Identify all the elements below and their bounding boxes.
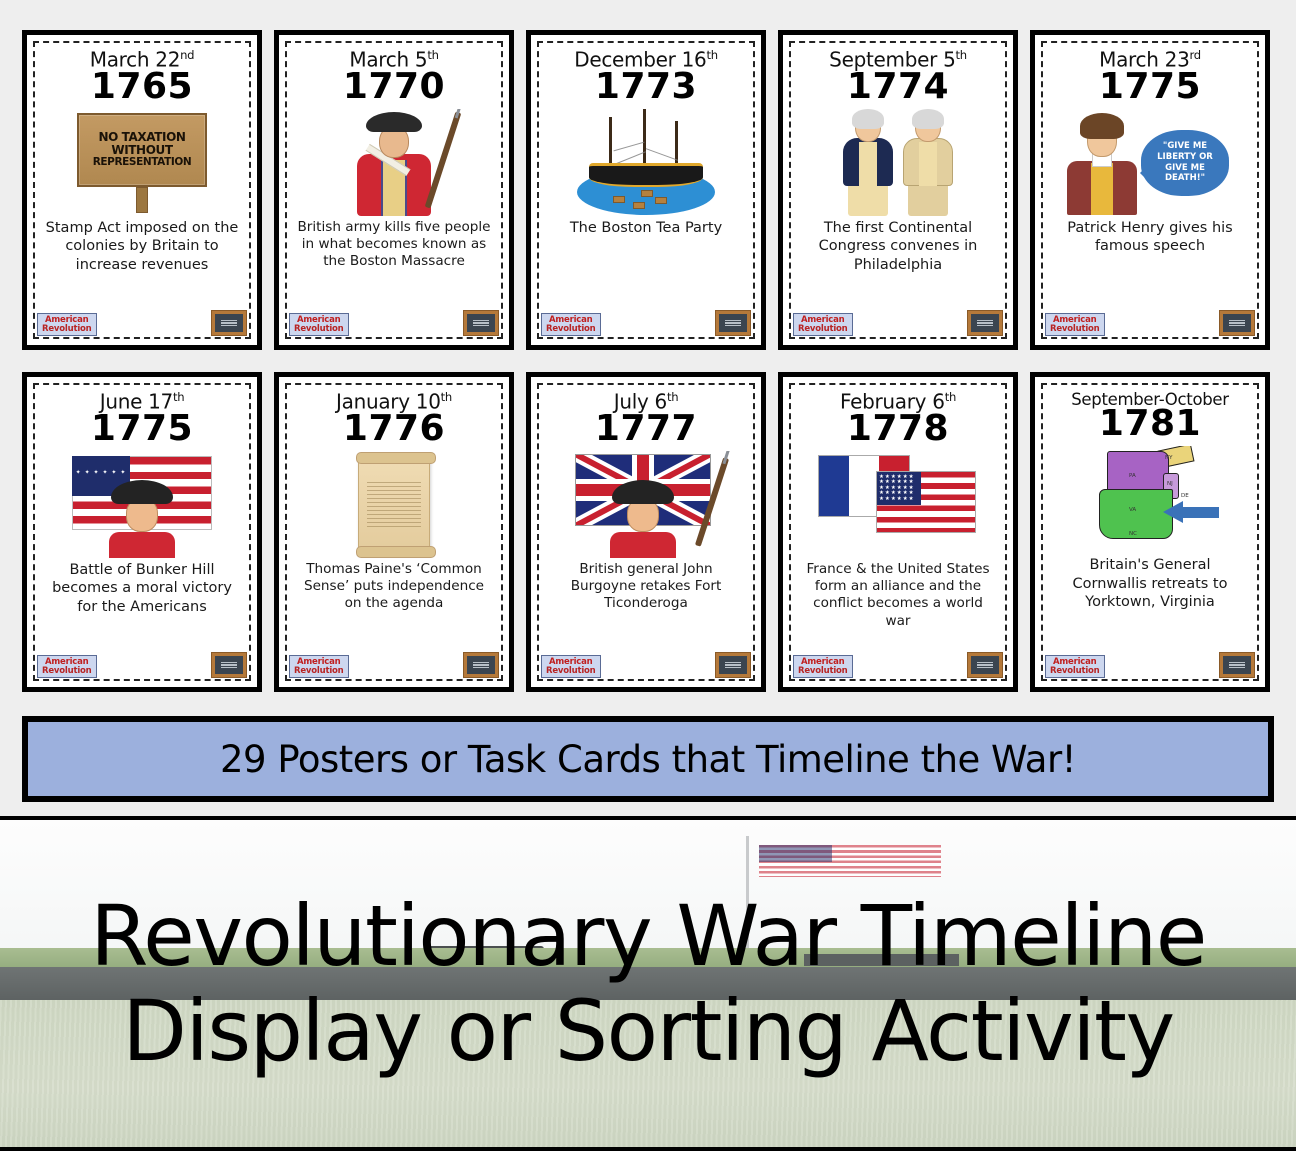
timeline-card[interactable]: June 17th 1775 Battle bbox=[22, 372, 262, 692]
american-revolution-badge: American Revolution bbox=[1045, 313, 1105, 336]
common-sense-scroll-art bbox=[293, 451, 495, 559]
card-badges: American Revolution bbox=[1045, 310, 1255, 336]
sign-line-2: WITHOUT bbox=[111, 144, 172, 156]
tea-ship-art bbox=[545, 109, 747, 217]
bunker-hill-soldier-art bbox=[41, 451, 243, 559]
chalkboard-logo-icon bbox=[715, 652, 751, 678]
card-badges: American Revolution bbox=[289, 310, 499, 336]
patrick-henry-art: "GIVE ME LIBERTY OR GIVE ME DEATH!" bbox=[1049, 109, 1251, 217]
card-year: 1776 bbox=[343, 411, 445, 447]
map-label-ny: NY bbox=[1165, 455, 1172, 461]
card-row-1: March 22nd 1765 NO TAXATION WITHOUT REPR… bbox=[22, 30, 1274, 350]
badge-line-2: Revolution bbox=[798, 667, 848, 676]
chalkboard-logo-icon bbox=[463, 310, 499, 336]
date-ordinal: th bbox=[667, 390, 678, 404]
timeline-card[interactable]: January 10th 1776 Thomas Paine's ‘Common… bbox=[274, 372, 514, 692]
timeline-card-grid: March 22nd 1765 NO TAXATION WITHOUT REPR… bbox=[0, 0, 1296, 714]
title-text-block: Revolutionary War Timeline Display or So… bbox=[0, 820, 1296, 1147]
badge-line-2: Revolution bbox=[294, 325, 344, 334]
american-revolution-badge: American Revolution bbox=[541, 655, 601, 678]
card-year: 1778 bbox=[847, 411, 949, 447]
badge-line-2: Revolution bbox=[546, 667, 596, 676]
american-revolution-badge: American Revolution bbox=[37, 655, 97, 678]
card-inner: September-October 1781 NY PA NJ DE V bbox=[1041, 383, 1259, 681]
american-revolution-badge: American Revolution bbox=[793, 655, 853, 678]
card-badges: American Revolution bbox=[37, 310, 247, 336]
sign-line-1: NO TAXATION bbox=[98, 131, 185, 143]
chalkboard-logo-icon bbox=[967, 652, 1003, 678]
speech-bubble: "GIVE ME LIBERTY OR GIVE ME DEATH!" bbox=[1141, 130, 1229, 196]
poster-page: March 22nd 1765 NO TAXATION WITHOUT REPR… bbox=[0, 0, 1296, 1151]
card-inner: March 22nd 1765 NO TAXATION WITHOUT REPR… bbox=[33, 41, 251, 339]
timeline-card[interactable]: March 5th 1770 British army kills five p… bbox=[274, 30, 514, 350]
map-label-pa: PA bbox=[1129, 473, 1136, 479]
card-inner: March 23rd 1775 "GIVE ME LIBERTY OR G bbox=[1041, 41, 1259, 339]
title-line-2: Display or Sorting Activity bbox=[8, 984, 1288, 1078]
card-badges: American Revolution bbox=[541, 652, 751, 678]
badge-line-2: Revolution bbox=[546, 325, 596, 334]
chalkboard-logo-icon bbox=[211, 310, 247, 336]
american-revolution-badge: American Revolution bbox=[793, 313, 853, 336]
title-section: Revolutionary War Timeline Display or So… bbox=[0, 816, 1296, 1151]
chalkboard-logo-icon bbox=[211, 652, 247, 678]
card-inner: June 17th 1775 Battle bbox=[33, 383, 251, 681]
yorktown-map-art: NY PA NJ DE VA NC bbox=[1049, 446, 1251, 554]
american-revolution-badge: American Revolution bbox=[1045, 655, 1105, 678]
card-inner: February 6th 1778 ★★★★★★★★★★★★★★★★★★★★★★… bbox=[789, 383, 1007, 681]
chalkboard-logo-icon bbox=[715, 310, 751, 336]
american-revolution-badge: American Revolution bbox=[541, 313, 601, 336]
date-ordinal: th bbox=[441, 390, 452, 404]
sign-line-3: REPRESENTATION bbox=[93, 157, 192, 168]
british-soldier-art bbox=[293, 109, 495, 217]
two-delegates-art bbox=[797, 109, 999, 217]
timeline-card[interactable]: March 23rd 1775 "GIVE ME LIBERTY OR G bbox=[1030, 30, 1270, 350]
card-badges: American Revolution bbox=[793, 652, 1003, 678]
badge-line-2: Revolution bbox=[798, 325, 848, 334]
date-ordinal: th bbox=[945, 390, 956, 404]
card-badges: American Revolution bbox=[289, 652, 499, 678]
card-year: 1765 bbox=[91, 69, 193, 105]
card-badges: American Revolution bbox=[793, 310, 1003, 336]
timeline-card[interactable]: February 6th 1778 ★★★★★★★★★★★★★★★★★★★★★★… bbox=[778, 372, 1018, 692]
american-revolution-badge: American Revolution bbox=[37, 313, 97, 336]
badge-line-2: Revolution bbox=[294, 667, 344, 676]
card-inner: January 10th 1776 Thomas Paine's ‘Common… bbox=[285, 383, 503, 681]
map-label-nc: NC bbox=[1129, 531, 1137, 537]
card-inner: March 5th 1770 British army kills five p… bbox=[285, 41, 503, 339]
map-label-de: DE bbox=[1181, 493, 1189, 499]
musket-icon bbox=[425, 111, 462, 208]
card-year: 1781 bbox=[1099, 406, 1201, 442]
chalkboard-logo-icon bbox=[1219, 310, 1255, 336]
timeline-card[interactable]: September 5th 1774 bbox=[778, 30, 1018, 350]
badge-line-2: Revolution bbox=[42, 325, 92, 334]
timeline-card[interactable]: September-October 1781 NY PA NJ DE V bbox=[1030, 372, 1270, 692]
card-badges: American Revolution bbox=[37, 652, 247, 678]
card-badges: American Revolution bbox=[1045, 652, 1255, 678]
map-label-nj: NJ bbox=[1167, 481, 1173, 487]
usa-flag: ★★★★★★★★★★★★★★★★★★★★★★★★★★★★★★ bbox=[876, 471, 976, 533]
map-label-va: VA bbox=[1129, 507, 1136, 513]
chalkboard-logo-icon bbox=[463, 652, 499, 678]
badge-line-2: Revolution bbox=[1050, 667, 1100, 676]
chalkboard-logo-icon bbox=[1219, 652, 1255, 678]
date-ordinal: th bbox=[173, 390, 184, 404]
date-ordinal: rd bbox=[1190, 48, 1201, 62]
card-inner: December 16th 1773 bbox=[537, 41, 755, 339]
timeline-card[interactable]: July 6th 1777 bbox=[526, 372, 766, 692]
card-row-2: June 17th 1775 Battle bbox=[22, 372, 1274, 692]
date-ordinal: th bbox=[706, 48, 717, 62]
card-year: 1773 bbox=[595, 69, 697, 105]
title-line-1: Revolutionary War Timeline bbox=[8, 889, 1288, 983]
date-ordinal: nd bbox=[180, 48, 194, 62]
product-count-banner: 29 Posters or Task Cards that Timeline t… bbox=[22, 716, 1274, 802]
date-ordinal: th bbox=[427, 48, 438, 62]
card-year: 1775 bbox=[1099, 69, 1201, 105]
france-usa-flags-art: ★★★★★★★★★★★★★★★★★★★★★★★★★★★★★★ bbox=[797, 451, 999, 559]
no-taxation-sign-art: NO TAXATION WITHOUT REPRESENTATION bbox=[41, 109, 243, 217]
american-revolution-badge: American Revolution bbox=[289, 655, 349, 678]
sign-post bbox=[136, 187, 148, 213]
card-year: 1777 bbox=[595, 411, 697, 447]
union-jack-soldier-art bbox=[545, 451, 747, 559]
banner-area: 29 Posters or Task Cards that Timeline t… bbox=[0, 714, 1296, 816]
card-badges: American Revolution bbox=[541, 310, 751, 336]
card-inner: September 5th 1774 bbox=[789, 41, 1007, 339]
retreat-arrow-icon bbox=[1163, 501, 1219, 523]
timeline-card[interactable]: March 22nd 1765 NO TAXATION WITHOUT REPR… bbox=[22, 30, 262, 350]
card-year: 1770 bbox=[343, 69, 445, 105]
card-year: 1774 bbox=[847, 69, 949, 105]
card-inner: July 6th 1777 bbox=[537, 383, 755, 681]
card-year: 1775 bbox=[91, 411, 193, 447]
date-ordinal: th bbox=[956, 48, 967, 62]
banner-text: 29 Posters or Task Cards that Timeline t… bbox=[220, 738, 1076, 781]
badge-line-2: Revolution bbox=[42, 667, 92, 676]
chalkboard-logo-icon bbox=[967, 310, 1003, 336]
timeline-card[interactable]: December 16th 1773 bbox=[526, 30, 766, 350]
american-revolution-badge: American Revolution bbox=[289, 313, 349, 336]
badge-line-2: Revolution bbox=[1050, 325, 1100, 334]
